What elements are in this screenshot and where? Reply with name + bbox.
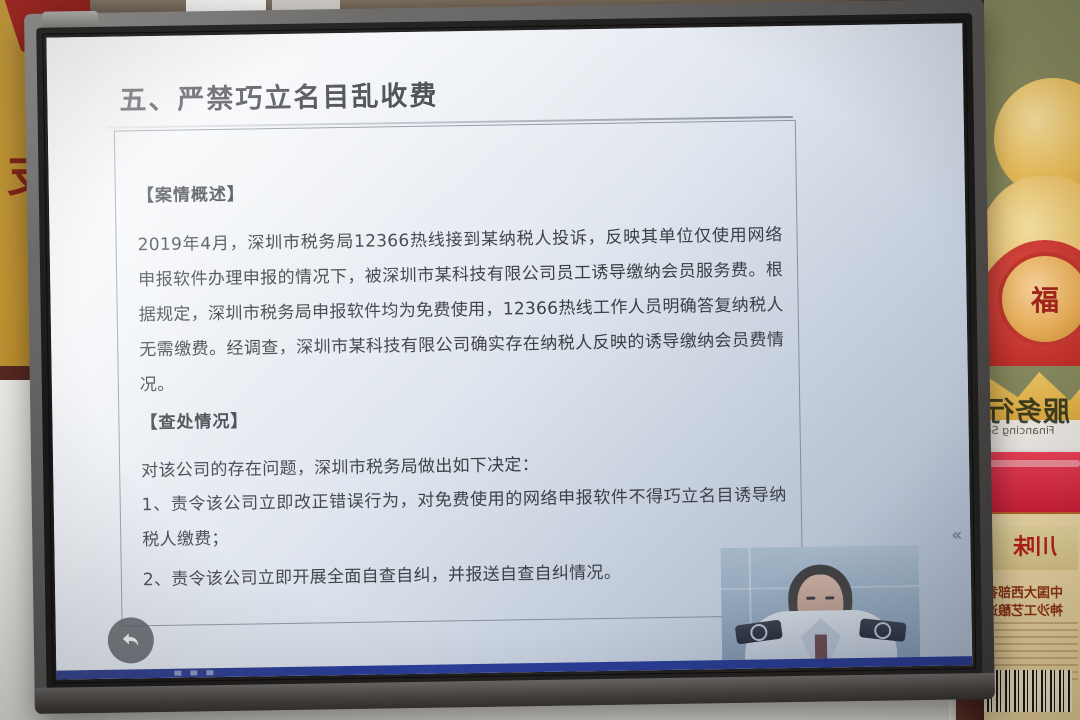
taskbar-item[interactable] (174, 671, 181, 676)
wall-display: 五、严禁巧立名目乱收费 【案情概述】 2019年4月，深圳市税务局12366热线… (24, 0, 995, 714)
section-heading-case-summary: 【案情概述】 (137, 180, 245, 207)
photo-scene: 支 福 服务行业 Financing Service 川味 中国大西部香 神沙工… (0, 0, 1080, 720)
display-mount-tab (42, 11, 98, 28)
slide-title: 五、严禁巧立名目乱收费 (119, 74, 439, 118)
coin-character: 福 (1002, 256, 1080, 342)
presentation-slide: 五、严禁巧立名目乱收费 【案情概述】 2019年4月，深圳市税务局12366热线… (46, 23, 972, 679)
investigation-item-1: 1、责令该公司立即改正错误行为，对免费使用的网络申报软件不得巧立名目诱导纳税人缴… (141, 478, 787, 558)
taskbar-item[interactable] (190, 670, 197, 675)
package-seal: 川味 (992, 526, 1078, 570)
section-heading-investigation: 【查处情况】 (140, 407, 248, 434)
collapse-panel-chevron-icon[interactable]: « (951, 525, 962, 545)
taskbar-item[interactable] (206, 670, 213, 675)
presenter-video-overlay[interactable] (720, 545, 920, 660)
back-button[interactable] (107, 617, 154, 664)
pip-color-cast (720, 545, 920, 660)
case-summary-paragraph: 2019年4月，深圳市税务局12366热线接到某纳税人投诉，反映其单位仅使用网络… (137, 218, 785, 403)
poster-coin-icon: 福 (998, 252, 1080, 346)
display-screen[interactable]: 五、严禁巧立名目乱收费 【案情概述】 2019年4月，深圳市税务局12366热线… (46, 23, 972, 679)
